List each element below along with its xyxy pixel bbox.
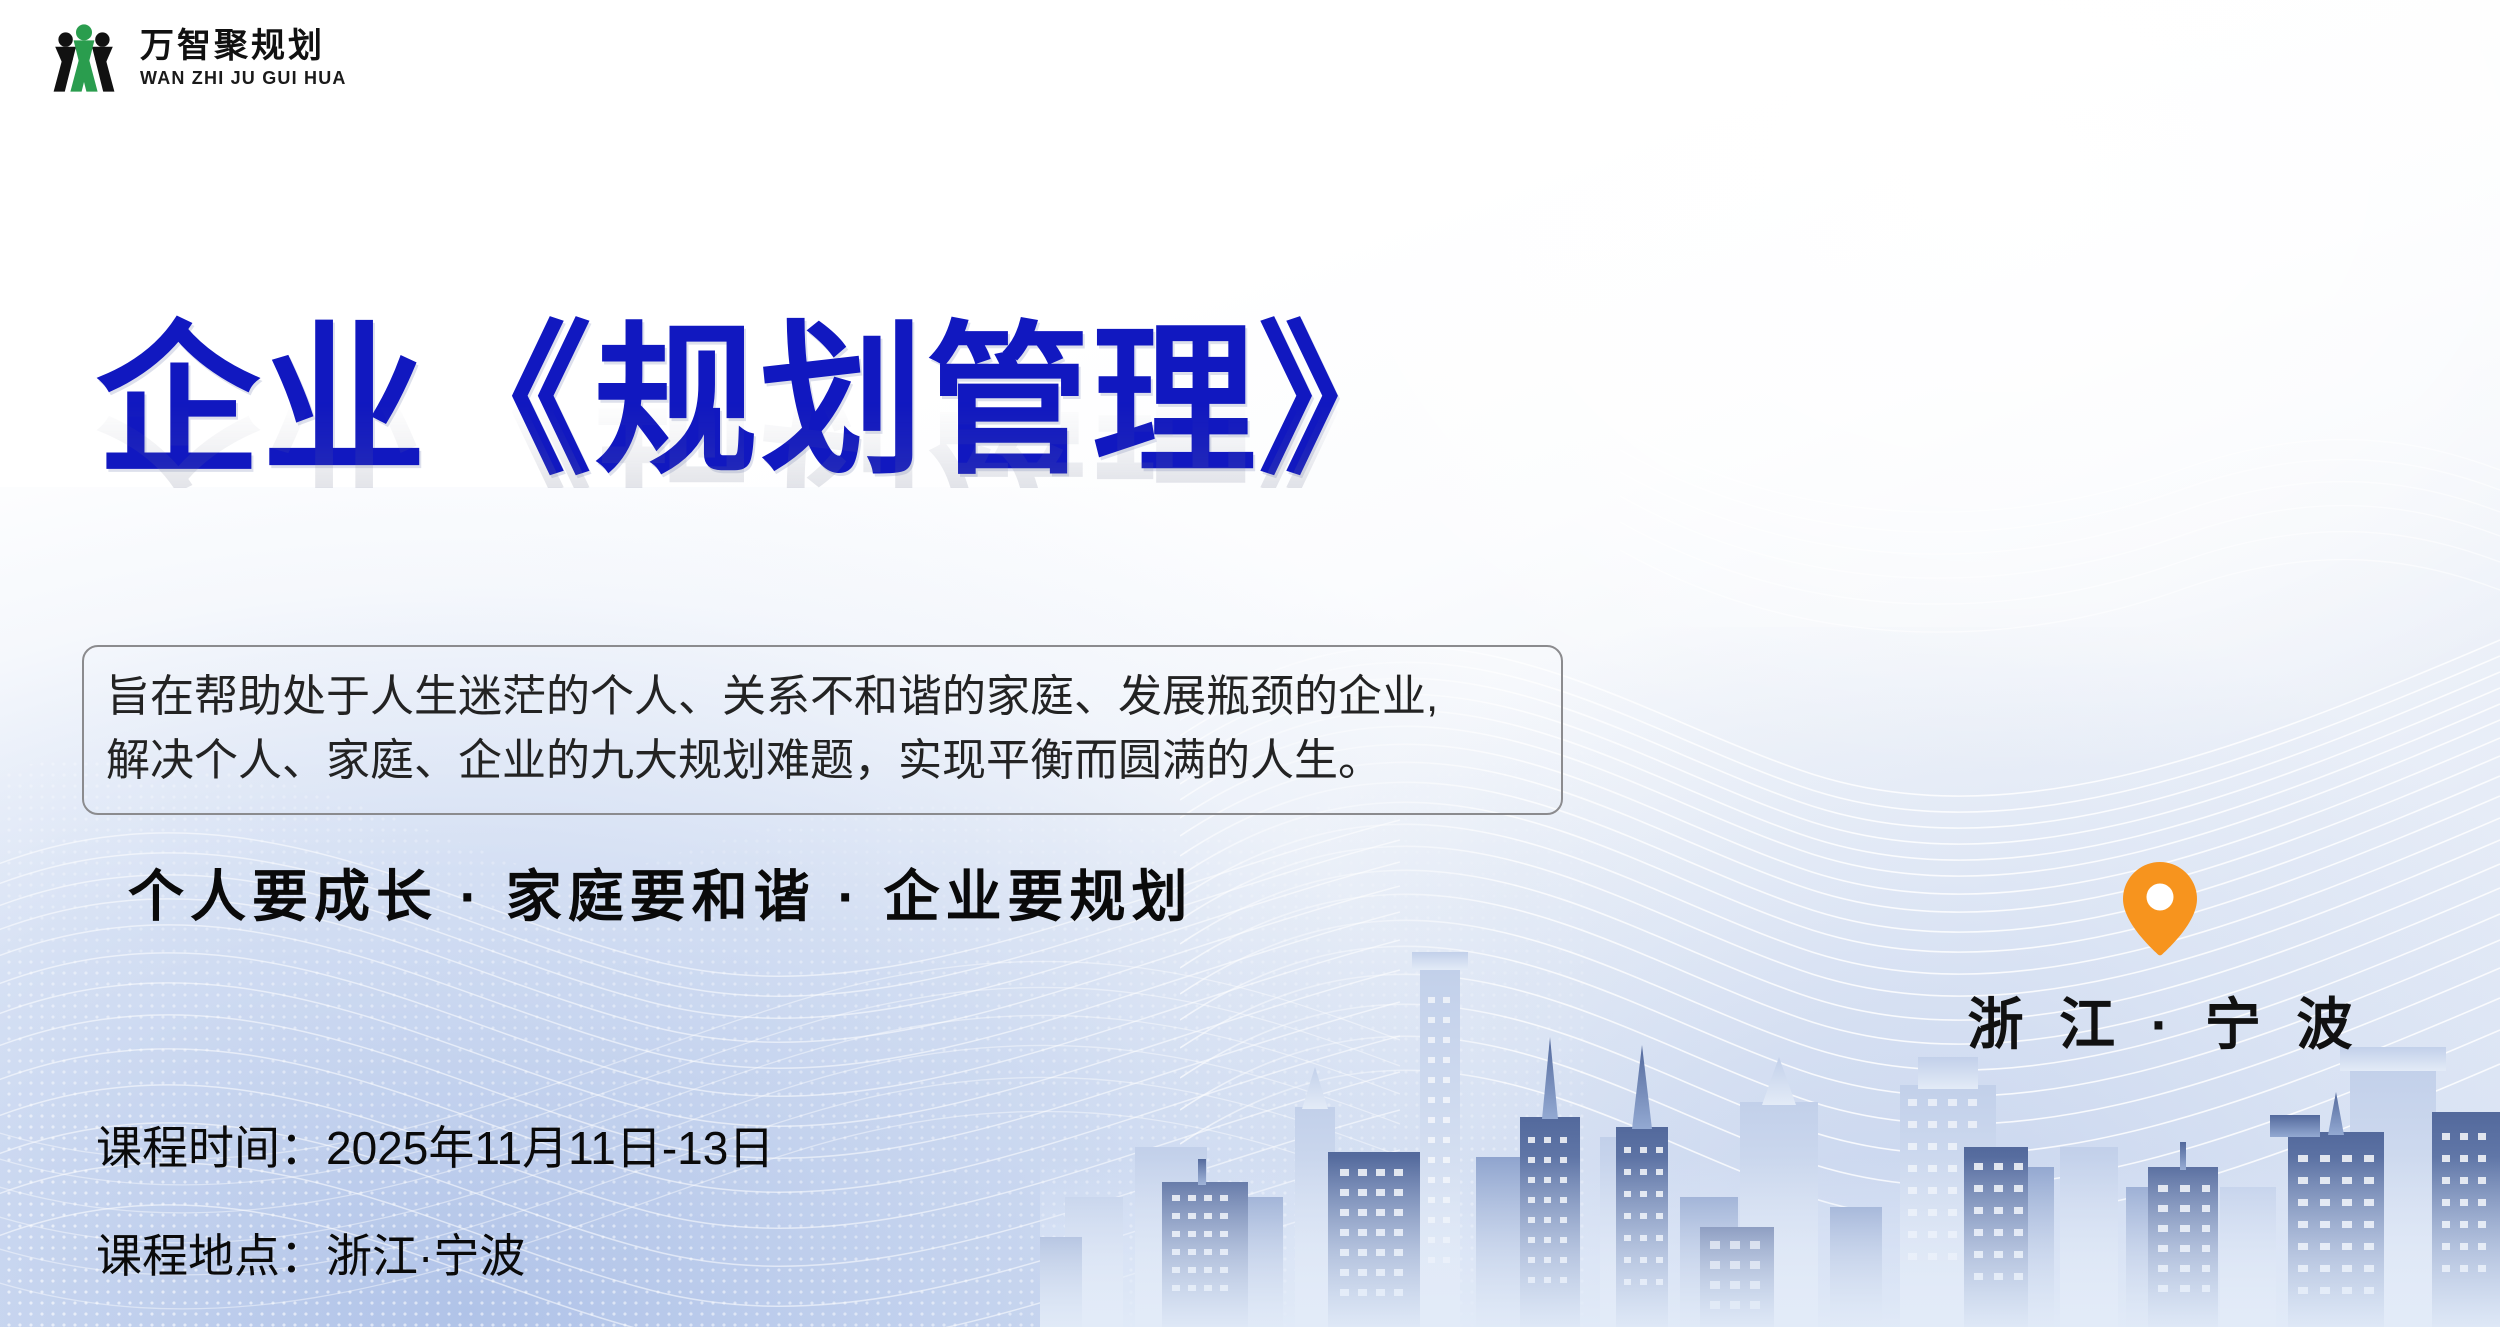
poster-canvas: 万智聚规划 WAN ZHI JU GUI HUA 企业《规划管理》 企业《规划管…: [0, 0, 2500, 1327]
course-date: 课程时间：2025年11月11日-13日: [96, 1112, 774, 1178]
description-line-1: 旨在帮助处于人生迷茫的个人、关系不和谐的家庭、发展瓶颈的企业,: [106, 665, 1539, 729]
description-line-2: 解决个人、家庭、企业的九大规划难题，实现平衡而圆满的人生。: [106, 729, 1539, 793]
brand-name-cn: 万智聚规划: [140, 30, 347, 64]
location-block: 浙 江 · 宁 波: [1950, 860, 2370, 1061]
brand-logo[interactable]: 万智聚规划 WAN ZHI JU GUI HUA: [44, 18, 347, 98]
description-box: 旨在帮助处于人生迷茫的个人、关系不和谐的家庭、发展瓶颈的企业, 解决个人、家庭、…: [82, 645, 1563, 815]
three-people-m-logo-icon: [44, 18, 124, 98]
hero-title-block: 企业《规划管理》 企业《规划管理》: [96, 320, 1656, 608]
course-place: 课程地点：浙江·宁波: [96, 1220, 774, 1286]
map-pin-icon: [2121, 860, 2199, 956]
location-label: 浙 江 · 宁 波: [1958, 980, 2363, 1061]
tagline: 个人要成长 · 家庭要和谐 · 企业要规划: [128, 852, 1194, 933]
brand-name-pinyin: WAN ZHI JU GUI HUA: [140, 69, 347, 87]
course-info: 课程时间：2025年11月11日-13日 课程地点：浙江·宁波: [96, 1112, 774, 1286]
title-reflection: 企业《规划管理》: [96, 368, 1656, 488]
